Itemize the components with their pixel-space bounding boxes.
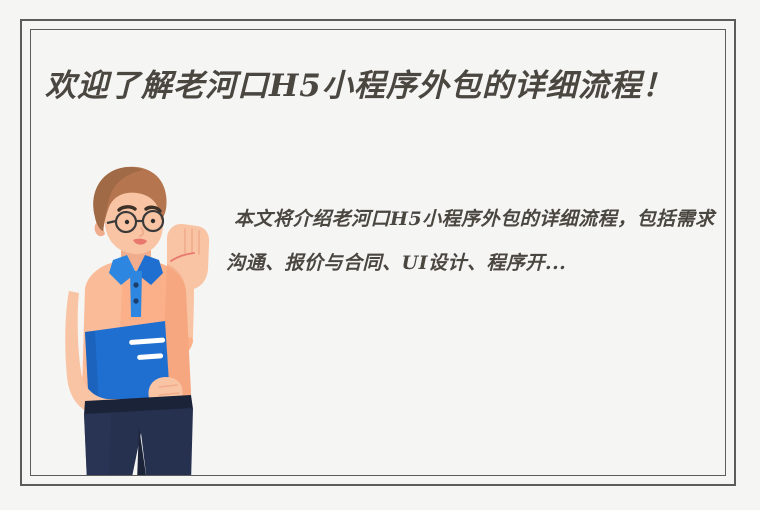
trousers-group [84, 395, 193, 476]
illustration-waving-man-with-book [51, 165, 221, 476]
article-summary: 本文将介绍老河口H5小程序外包的详细流程，包括需求沟通、报价与合同、UI设计、程… [226, 197, 726, 285]
article-title[interactable]: 欢迎了解老河口H5小程序外包的详细流程！ [45, 63, 726, 110]
head-group [93, 167, 166, 254]
article-card[interactable]: 欢迎了解老河口H5小程序外包的详细流程！ [20, 19, 736, 486]
article-inner-frame: 欢迎了解老河口H5小程序外包的详细流程！ [30, 29, 726, 476]
